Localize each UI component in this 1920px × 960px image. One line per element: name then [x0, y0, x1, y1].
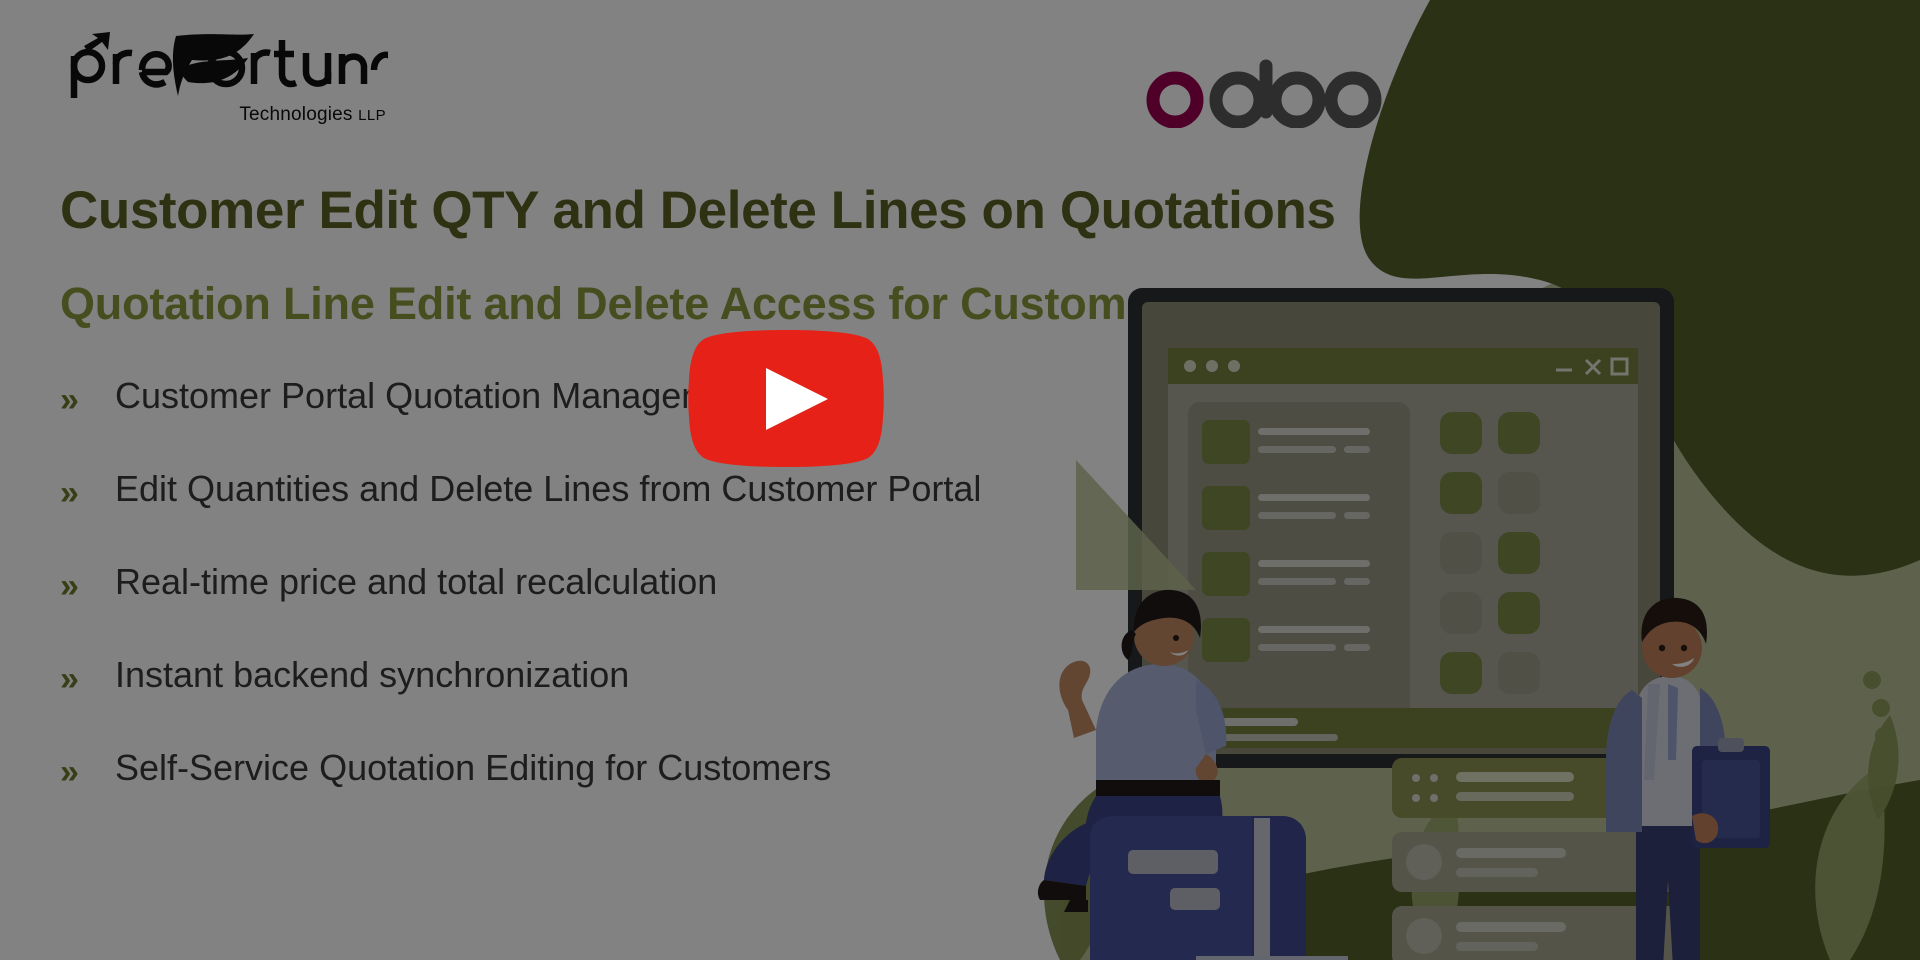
logo-tagline-text: Technologies: [239, 104, 352, 125]
window-dots: [1184, 360, 1240, 372]
list-item: » Edit Quantities and Delete Lines from …: [60, 468, 1160, 561]
video-thumbnail: Technologies LLP Customer Edit QTY and D…: [0, 0, 1920, 960]
logo-suffix: LLP: [358, 107, 386, 124]
list-item: » Customer Portal Quotation Management: [60, 375, 1160, 468]
quotation-line-list: [1188, 402, 1410, 726]
odoo-logo: [1142, 50, 1382, 133]
list-item-label: Edit Quantities and Delete Lines from Cu…: [115, 468, 981, 509]
browser-window: [1168, 348, 1638, 748]
list-item-label: Customer Portal Quotation Management: [115, 375, 761, 416]
list-item-label: Self-Service Quotation Editing for Custo…: [115, 747, 831, 788]
list-item: » Self-Service Quotation Editing for Cus…: [60, 747, 1160, 840]
odoo-letter-o-2: [1275, 78, 1319, 122]
chevron-double-right-icon: »: [60, 662, 79, 696]
list-item-label: Real-time price and total recalculation: [115, 561, 717, 602]
list-item-label: Instant backend synchronization: [115, 654, 629, 695]
prefortune-logo: Technologies LLP: [58, 28, 388, 128]
list-item: » Real-time price and total recalculatio…: [60, 561, 1160, 654]
odoo-letter-o-3: [1331, 78, 1375, 122]
chevron-double-right-icon: »: [60, 383, 79, 417]
blue-folder: [1090, 816, 1306, 960]
chevron-double-right-icon: »: [60, 476, 79, 510]
logo-tagline: Technologies LLP: [239, 104, 386, 126]
feature-list: » Customer Portal Quotation Management »…: [60, 375, 1160, 840]
chevron-double-right-icon: »: [60, 569, 79, 603]
prefortune-wordmark: [58, 28, 388, 100]
odoo-letter-d-bowl: [1216, 78, 1260, 122]
chevron-double-right-icon: »: [60, 755, 79, 789]
play-button[interactable]: [688, 330, 884, 467]
quotation-portal-illustration: [1000, 260, 1920, 960]
list-item: » Instant backend synchronization: [60, 654, 1160, 747]
odoo-letter-o-1: [1153, 78, 1197, 122]
page-title: Customer Edit QTY and Delete Lines on Qu…: [60, 180, 1360, 241]
money-stack: [1196, 956, 1360, 960]
arrow-up-right-icon: [84, 32, 110, 52]
